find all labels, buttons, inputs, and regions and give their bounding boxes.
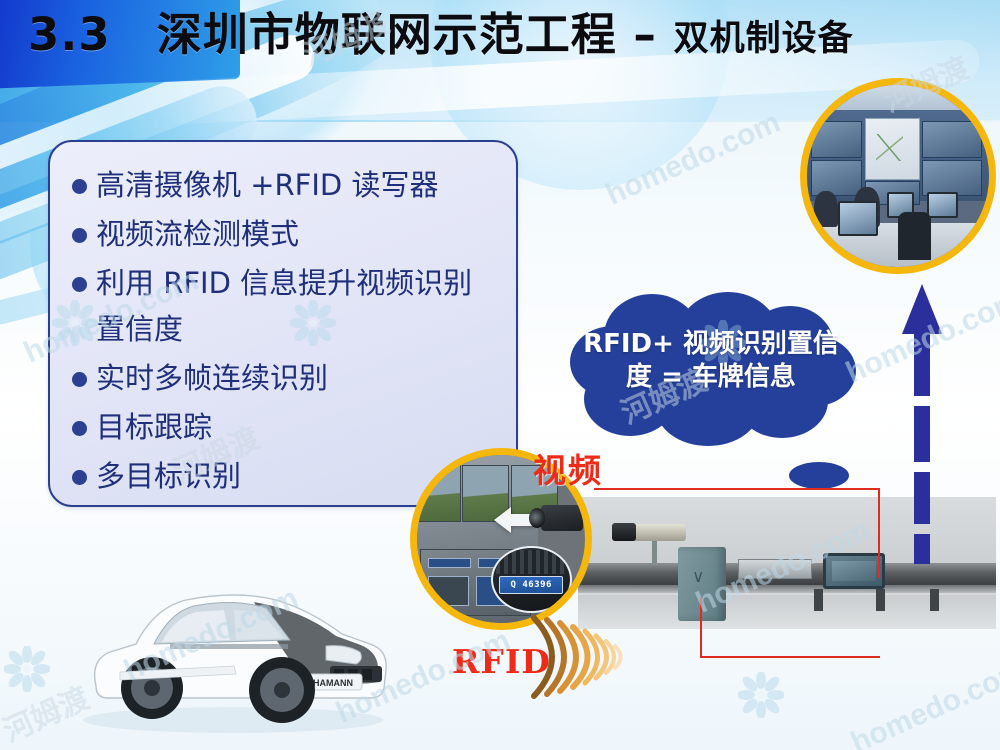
traffic-camera-icon (632, 524, 686, 541)
list-item-label: 目标跟踪 (96, 404, 212, 450)
result-field (428, 558, 472, 568)
connector-line-right (878, 488, 880, 578)
wall-screen (922, 160, 982, 196)
license-plate-number: Q 46396 (499, 576, 563, 595)
list-item: 实时多帧连续识别 (72, 355, 500, 401)
gantry-leg (876, 589, 885, 611)
list-item-label: 实时多帧连续识别 (96, 355, 328, 401)
page-title: 3.3 深圳市物联网示范工程 – 双机制设备 (28, 8, 968, 66)
bullet-dot-icon (72, 470, 87, 485)
rfid-signal-waves-icon (530, 612, 640, 702)
list-item: 利用 RFID 信息提升视频识别置信度 (72, 260, 500, 352)
camera-device-icon (541, 505, 583, 531)
roadside-cabinet (678, 547, 726, 621)
vehicle-thumbnail (414, 465, 461, 522)
connector-line-top (594, 488, 880, 490)
result-preview (428, 576, 469, 606)
watermark-text: homedo.com (601, 106, 785, 213)
list-item-label: 视频流检测模式 (96, 211, 299, 257)
bullet-dot-icon (72, 277, 87, 292)
watermark-text: homedo.com (846, 654, 1000, 750)
gantry-rail (738, 559, 812, 579)
wall-map-display (865, 118, 920, 180)
car-grille (496, 550, 566, 574)
bullet-dot-icon (72, 179, 87, 194)
list-item: 高清摄像机 +RFID 读写器 (72, 162, 500, 208)
slide-canvas: 3.3 深圳市物联网示范工程 – 双机制设备 高清摄像机 +RFID 读写器 视… (0, 0, 1000, 750)
thought-bubble-large (789, 462, 849, 489)
control-room-photo (800, 78, 996, 274)
operator-chair (898, 212, 931, 259)
operator-silhouette (814, 191, 838, 227)
watermark-flower-icon (738, 672, 784, 718)
wall-screen (922, 121, 982, 157)
connector-line-bottom (700, 656, 880, 658)
desk-monitor (838, 201, 878, 236)
connector-line-left (700, 598, 702, 658)
list-item-label: 利用 RFID 信息提升视频识别置信度 (96, 260, 500, 352)
wall-screen (811, 160, 862, 196)
camera-mount (652, 541, 657, 563)
license-plate-closeup: Q 46396 (491, 546, 572, 613)
wall-screen (811, 121, 862, 157)
list-item-label: 高清摄像机 +RFID 读写器 (96, 162, 438, 208)
list-item: 目标跟踪 (72, 404, 500, 450)
thought-cloud: RFID+ 视频识别置信度 = 车牌信息 (560, 292, 860, 454)
bullet-dot-icon (72, 228, 87, 243)
bullet-dot-icon (72, 421, 87, 436)
upward-flow-arrow-icon (900, 282, 944, 572)
white-suv-photo: HAMANN (58, 548, 403, 738)
desk-monitor (927, 192, 958, 217)
bullet-dot-icon (72, 372, 87, 387)
watermark-flower-icon (4, 646, 50, 692)
page-title-main: 3.3 深圳市物联网示范工程 – (28, 8, 674, 61)
svg-text:HAMANN: HAMANN (313, 678, 353, 688)
list-item: 视频流检测模式 (72, 211, 500, 257)
list-item-label: 多目标识别 (96, 453, 241, 499)
rfid-reader-unit (823, 553, 885, 589)
gantry-leg (814, 589, 823, 611)
video-label: 视频 (533, 444, 603, 492)
cloud-label: RFID+ 视频识别置信度 = 车牌信息 (580, 328, 842, 394)
gantry-leg (930, 589, 939, 611)
bullet-panel: 高清摄像机 +RFID 读写器 视频流检测模式 利用 RFID 信息提升视频识别… (48, 140, 518, 507)
page-title-sub: 双机制设备 (674, 19, 854, 59)
